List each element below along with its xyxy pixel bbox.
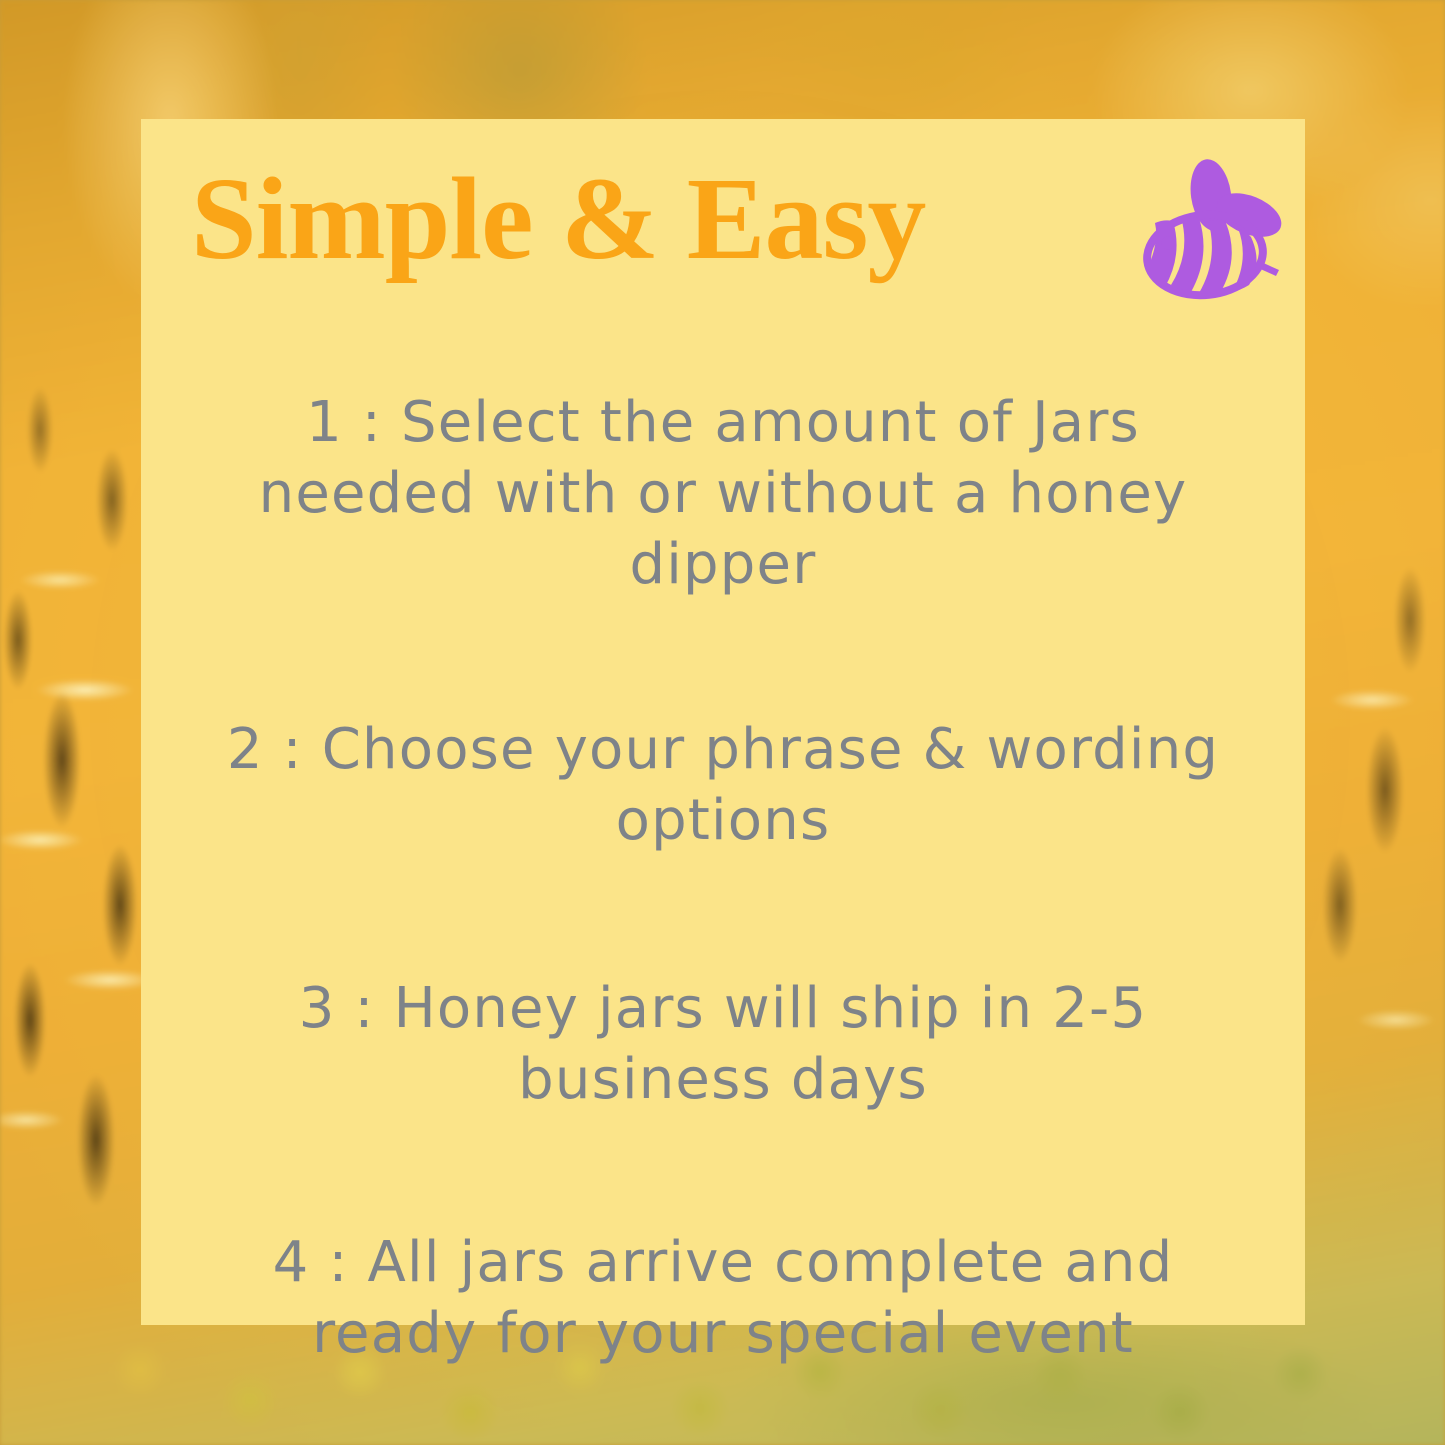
step-item-3: 3 : Honey jars will ship in 2-5 business…	[193, 973, 1253, 1115]
step-item-4: 4 : All jars arrive complete and ready f…	[193, 1227, 1253, 1369]
steps-list: 1 : Select the amount of Jars needed wit…	[193, 331, 1253, 1277]
step-item-2: 2 : Choose your phrase & wording options	[193, 714, 1253, 856]
step-item-1: 1 : Select the amount of Jars needed wit…	[193, 387, 1253, 600]
instructions-card: Simple & Easy	[141, 119, 1305, 1325]
bee-icon	[1133, 157, 1293, 317]
poster-canvas: Simple & Easy	[0, 0, 1445, 1445]
card-header: Simple & Easy	[141, 147, 1305, 307]
page-title: Simple & Easy	[191, 157, 925, 281]
